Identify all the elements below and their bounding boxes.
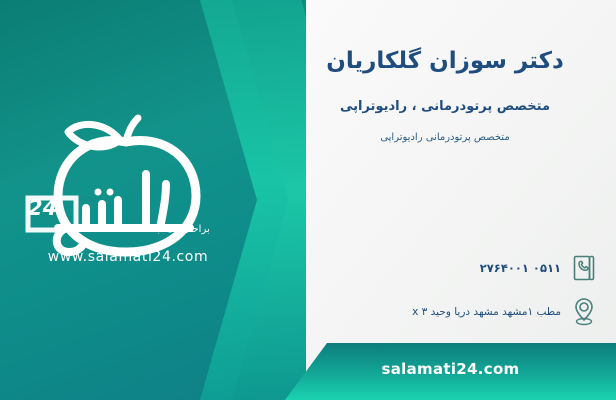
- footer-bar: salamati24.com: [285, 343, 616, 400]
- doctor-name: دکتر سوزان گلکاریان: [300, 46, 590, 77]
- map-pin-icon: [570, 296, 598, 328]
- salamati24-logo: [14, 112, 244, 272]
- clinic-address: مطب ۱مشهد مشهد دریا وحید ۳ x: [412, 306, 561, 318]
- phone-number: ۰۵۱۱ ۲۷۶۴۰۰۱: [480, 261, 561, 275]
- footer-website[interactable]: salamati24.com: [285, 360, 616, 378]
- phone-row[interactable]: ۰۵۱۱ ۲۷۶۴۰۰۱: [480, 252, 598, 284]
- doctor-specialty: متخصص پرتودرمانی ، رادیوتراپی: [300, 98, 590, 116]
- logo-24-badge: 24: [28, 196, 57, 220]
- phonebook-icon: [570, 252, 598, 284]
- logo-website-url: www.salamati24.com: [14, 249, 242, 265]
- doctor-specialty-secondary: متخصص پرتودرمانی رادیوتراپی: [300, 131, 590, 145]
- doctor-profile-card: 24 براحتی یک لبخند www.salamati24.com دک…: [0, 0, 616, 400]
- logo-tagline: براحتی یک لبخند: [120, 224, 232, 235]
- address-row[interactable]: مطب ۱مشهد مشهد دریا وحید ۳ x: [412, 296, 598, 328]
